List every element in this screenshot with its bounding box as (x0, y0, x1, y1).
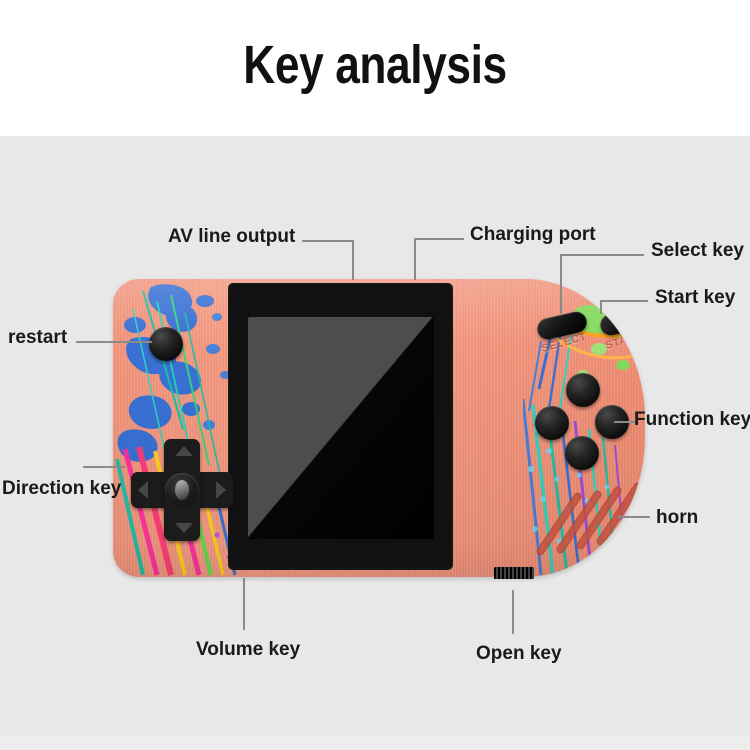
dpad-down-arrow-icon[interactable] (175, 523, 193, 533)
page-title: Key analysis (68, 34, 683, 96)
leader-start-key-h (600, 300, 648, 302)
lcd-screen[interactable] (248, 317, 434, 539)
leader-start-key-v (600, 300, 602, 314)
leader-charging-port-h (414, 238, 464, 240)
screen-bezel (228, 283, 453, 570)
action-button-bottom[interactable] (565, 436, 599, 470)
callout-volume-key: Volume key (196, 639, 300, 661)
leader-charging-port-v (414, 238, 416, 280)
power-switch[interactable] (494, 567, 534, 579)
callout-select-key: Select key (651, 240, 744, 262)
callout-direction-key: Direction key (2, 478, 121, 500)
callout-horn: horn (656, 507, 698, 529)
callout-start-key: Start key (655, 287, 735, 309)
dpad-left-arrow-icon[interactable] (138, 481, 148, 499)
screen-reflection (248, 317, 434, 539)
dpad-center[interactable] (165, 473, 199, 507)
speaker-grille (555, 485, 645, 563)
leader-horn-h (618, 516, 650, 518)
header-bar: Key analysis (0, 0, 750, 136)
leader-select-key-v (560, 254, 562, 314)
action-button-left[interactable] (535, 406, 569, 440)
handheld-console: SELECT START (113, 279, 645, 577)
dpad-up-arrow-icon[interactable] (175, 446, 193, 456)
leader-restart-h (76, 341, 152, 343)
action-button-top[interactable] (566, 373, 600, 407)
page-root: Key analysis (0, 0, 750, 750)
restart-button[interactable] (149, 327, 183, 361)
callout-restart: restart (8, 327, 67, 349)
leader-open-key-v (512, 590, 514, 634)
callout-function-key: Function key (634, 409, 750, 431)
leader-av-line-output-h (302, 240, 354, 242)
dpad-right-arrow-icon[interactable] (216, 481, 226, 499)
leader-select-key-h (560, 254, 644, 256)
leader-volume-key-v (243, 578, 245, 630)
leader-direction-key-h (83, 466, 125, 468)
stage-bottom-strip (0, 736, 750, 750)
leader-av-line-output-v (352, 240, 354, 280)
callout-open-key: Open key (476, 643, 562, 665)
console-body: SELECT START (113, 279, 645, 577)
direction-pad[interactable] (131, 439, 233, 541)
callout-av-line-output: AV line output (168, 226, 295, 248)
callout-charging-port: Charging port (470, 224, 596, 246)
